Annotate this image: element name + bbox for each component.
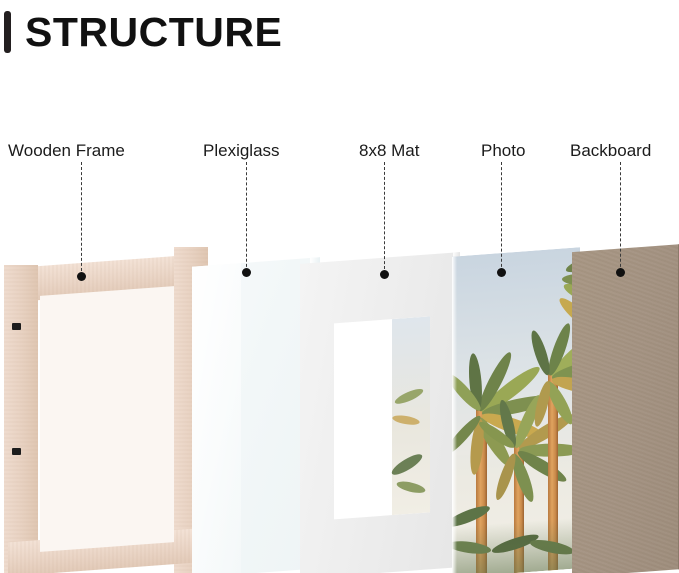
leader-line-plexiglass [246, 162, 247, 272]
label-mat: 8x8 Mat [359, 142, 419, 159]
label-backboard: Backboard [570, 142, 651, 159]
component-wooden-frame [0, 243, 216, 573]
title-text: STRUCTURE [25, 12, 282, 53]
mat-window [334, 316, 430, 519]
frame-clip-lower [12, 448, 21, 455]
infographic-canvas: STRUCTURE [0, 0, 679, 573]
label-wooden-frame: Wooden Frame [8, 142, 125, 159]
photo-image [452, 247, 580, 573]
leader-line-photo [501, 162, 502, 272]
leader-dot-photo [497, 268, 506, 277]
leader-line-wooden-frame [81, 162, 82, 276]
photo-understory [452, 517, 580, 573]
component-backboard [572, 244, 679, 573]
frame-clip-upper [12, 323, 21, 330]
leader-line-backboard [620, 162, 621, 272]
component-mat [300, 252, 460, 573]
label-plexiglass: Plexiglass [203, 142, 280, 159]
plexiglass-gloss [192, 263, 241, 573]
leader-line-mat [384, 162, 385, 274]
photo-edge [452, 256, 457, 573]
title-accent-bar [4, 11, 11, 53]
leader-dot-plexiglass [242, 268, 251, 277]
backboard-face [572, 244, 679, 573]
component-photo [452, 247, 580, 573]
page-title: STRUCTURE [0, 8, 282, 56]
leader-dot-mat [380, 270, 389, 279]
mat-window-photo-sliver [392, 316, 430, 515]
frame-opening [40, 286, 174, 552]
frame-left-rail [4, 265, 38, 573]
leader-dot-wooden-frame [77, 272, 86, 281]
leader-dot-backboard [616, 268, 625, 277]
label-photo: Photo [481, 142, 525, 159]
